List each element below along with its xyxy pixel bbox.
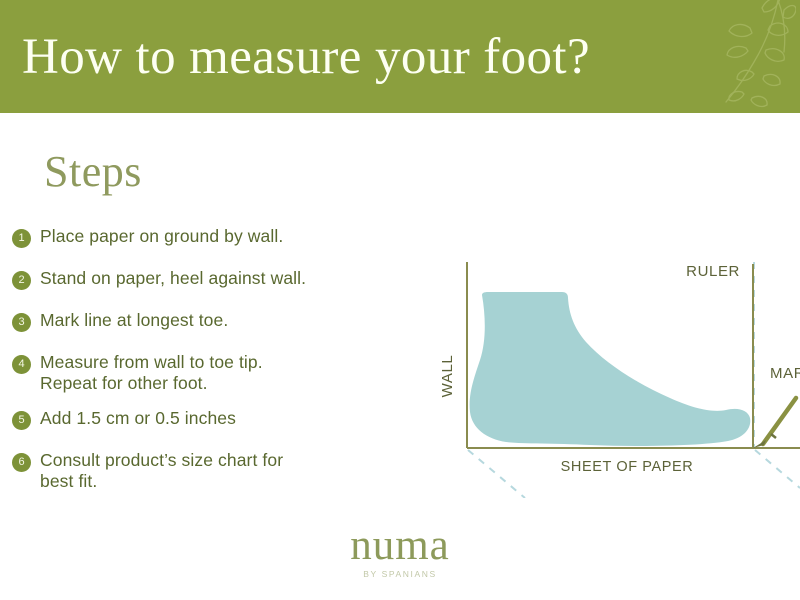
step-number-badge: 1: [12, 229, 31, 248]
foot-measurement-diagram: WALL SHEET OF PAPER RULER MAR: [430, 248, 800, 498]
step-number-badge: 6: [12, 453, 31, 472]
step-line-1: Measure from wall to toe tip.: [40, 352, 263, 372]
list-item: 1 Place paper on ground by wall.: [12, 226, 432, 254]
step-line-1: Stand on paper, heel against wall.: [40, 268, 306, 288]
logo-wordmark: numa: [0, 524, 800, 568]
pencil-icon: [753, 398, 796, 448]
step-line-2: Repeat for other foot.: [40, 373, 432, 394]
brand-logo: numa BY SPANIANS: [0, 524, 800, 579]
header-banner: How to measure your foot?: [0, 0, 800, 113]
step-line-1: Consult product’s size chart for: [40, 450, 283, 470]
infographic-page: How to measure your foot? Steps 1: [0, 0, 800, 600]
step-text: Add 1.5 cm or 0.5 inches: [40, 408, 432, 429]
step-number-badge: 4: [12, 355, 31, 374]
list-item: 6 Consult product’s size chart for best …: [12, 450, 432, 492]
step-number-badge: 2: [12, 271, 31, 290]
logo-tagline: BY SPANIANS: [0, 569, 800, 579]
mark-label: MAR: [770, 365, 800, 382]
steps-list: 1 Place paper on ground by wall. 2 Stand…: [12, 226, 432, 506]
sheet-of-paper-label: SHEET OF PAPER: [561, 459, 694, 475]
steps-heading: Steps: [44, 146, 142, 198]
step-text: Place paper on ground by wall.: [40, 226, 432, 247]
list-item: 4 Measure from wall to toe tip. Repeat f…: [12, 352, 432, 394]
step-line-1: Add 1.5 cm or 0.5 inches: [40, 408, 236, 428]
step-text: Measure from wall to toe tip. Repeat for…: [40, 352, 432, 394]
list-item: 3 Mark line at longest toe.: [12, 310, 432, 338]
step-line-1: Place paper on ground by wall.: [40, 226, 283, 246]
step-text: Stand on paper, heel against wall.: [40, 268, 432, 289]
foot-silhouette: [470, 292, 751, 446]
leaf-branch-icon: [692, 0, 796, 113]
ruler-label: RULER: [686, 263, 740, 280]
step-line-2: best fit.: [40, 471, 432, 492]
step-text: Mark line at longest toe.: [40, 310, 432, 331]
step-line-1: Mark line at longest toe.: [40, 310, 228, 330]
step-text: Consult product’s size chart for best fi…: [40, 450, 432, 492]
step-number-badge: 3: [12, 313, 31, 332]
wall-label: WALL: [439, 355, 456, 398]
list-item: 5 Add 1.5 cm or 0.5 inches: [12, 408, 432, 436]
list-item: 2 Stand on paper, heel against wall.: [12, 268, 432, 296]
page-title: How to measure your foot?: [22, 28, 590, 86]
step-number-badge: 5: [12, 411, 31, 430]
